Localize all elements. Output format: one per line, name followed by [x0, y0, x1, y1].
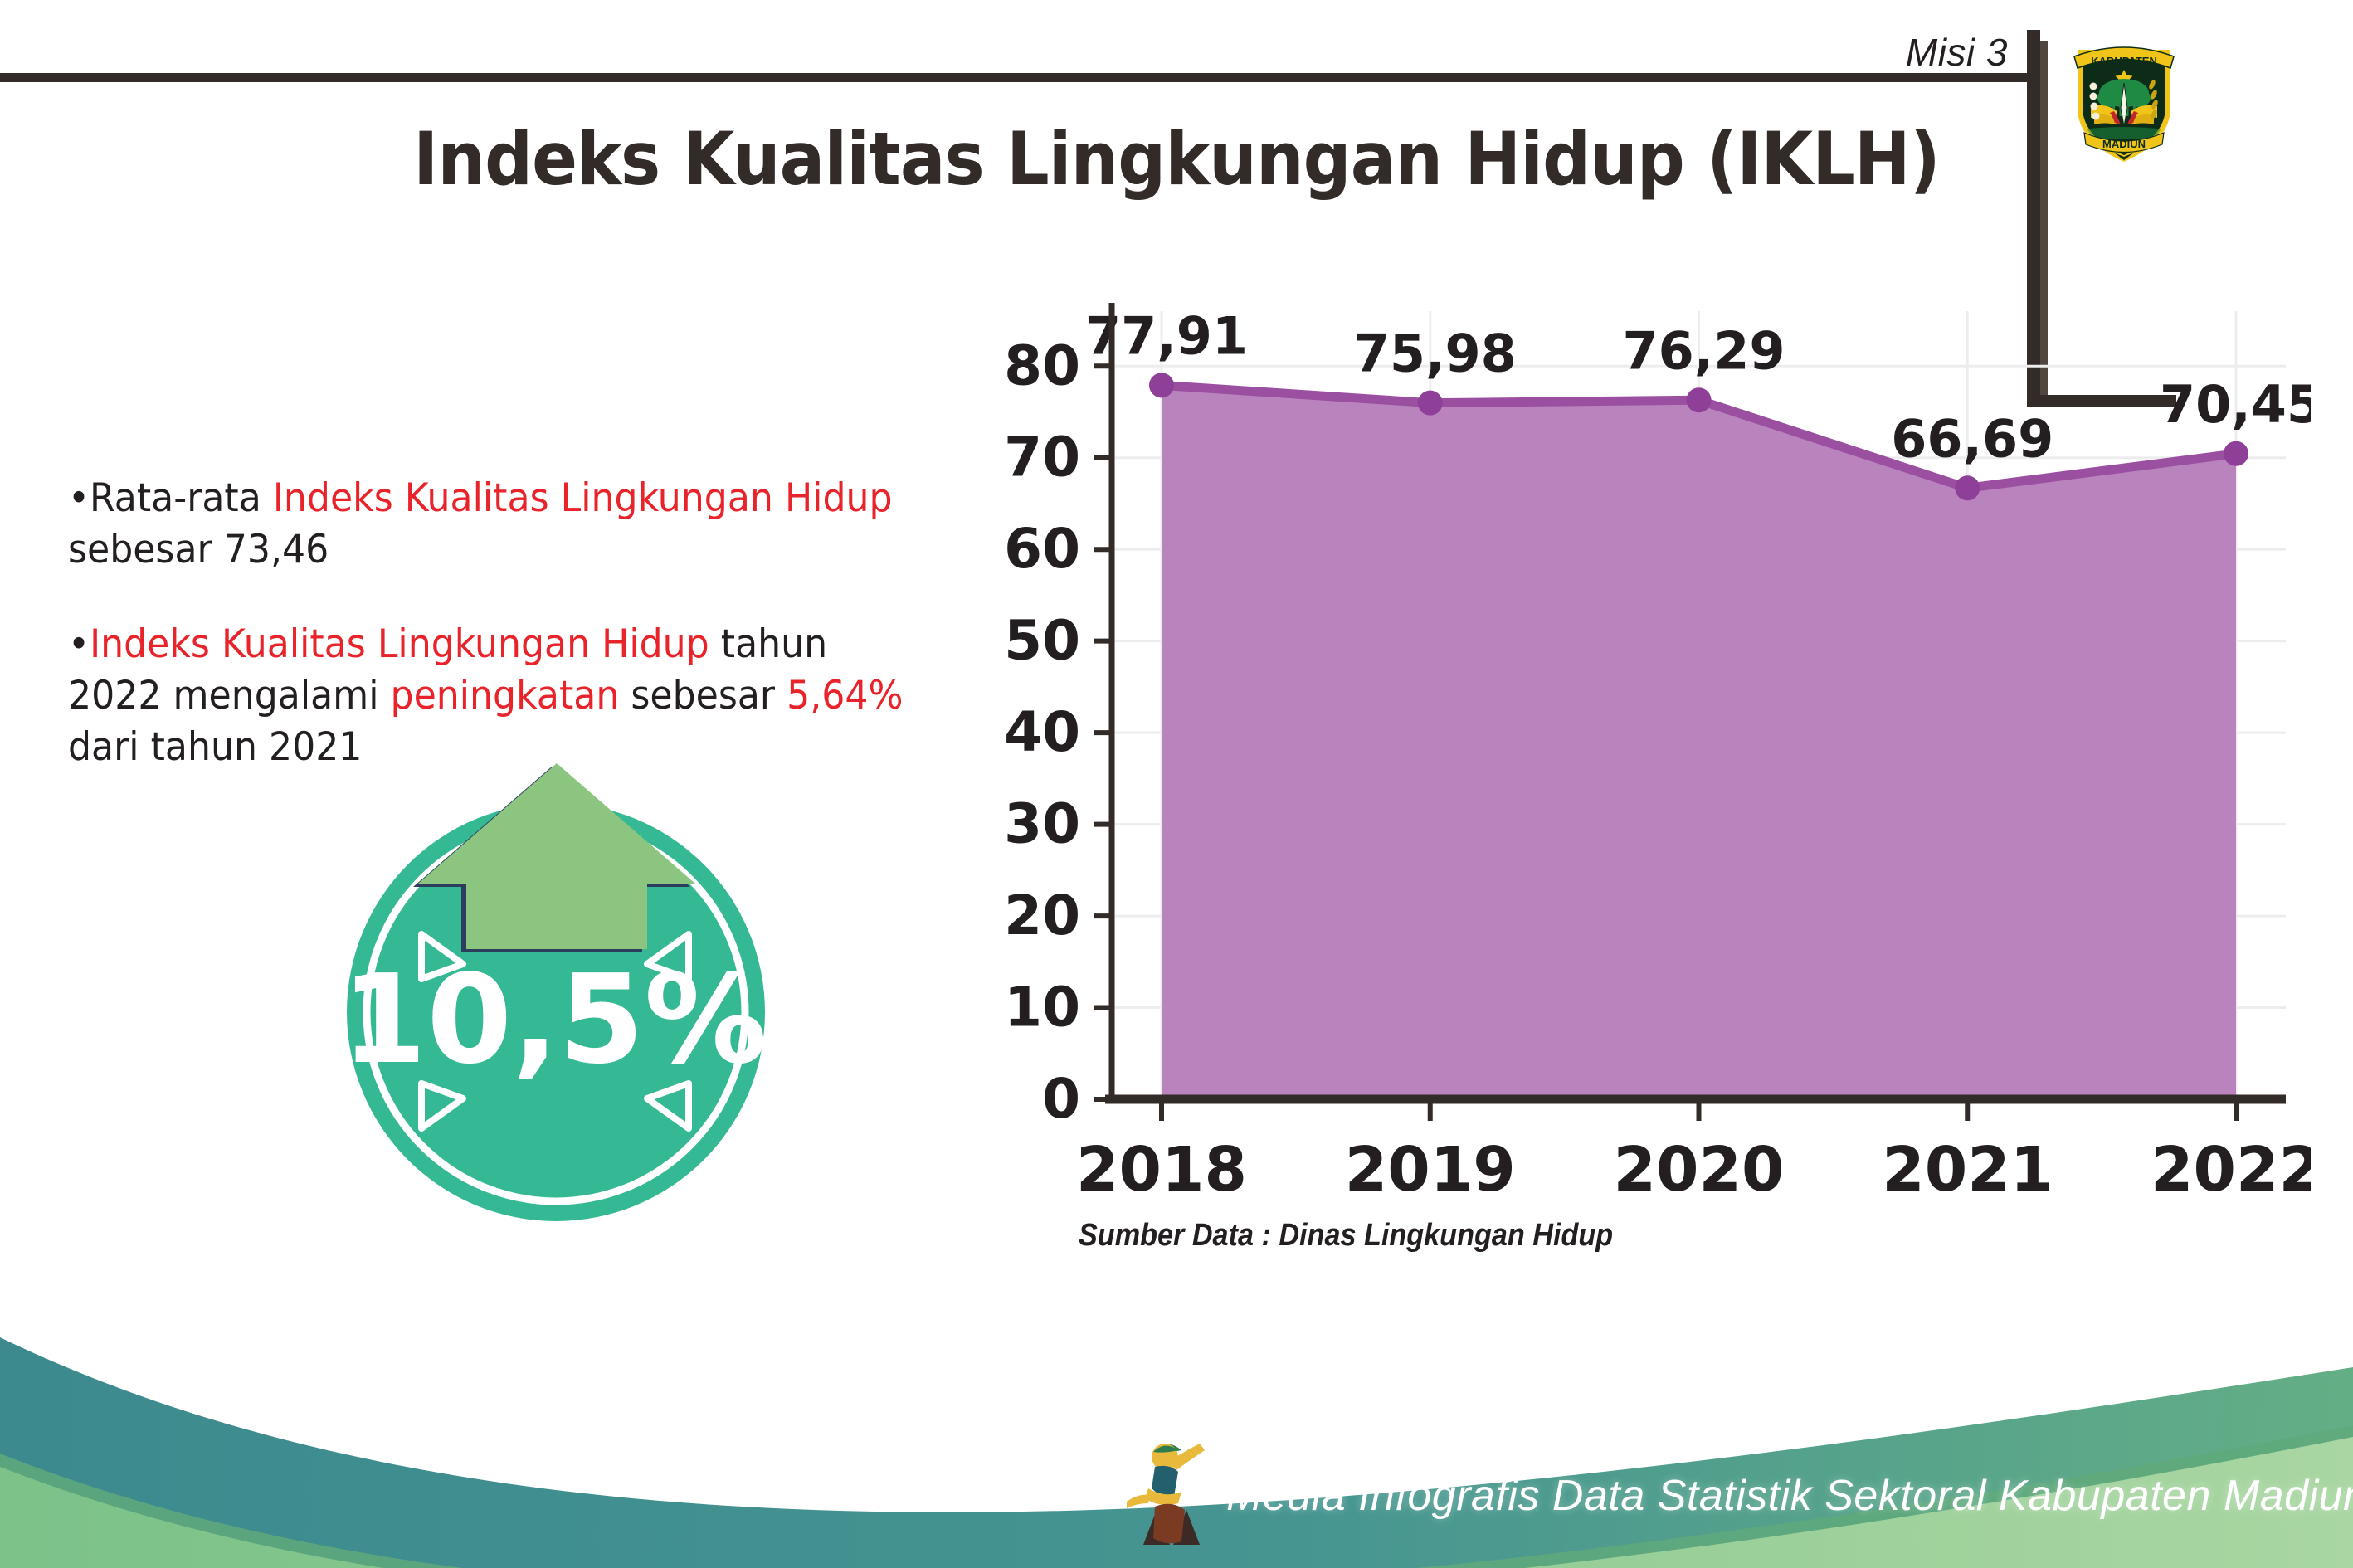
- x-axis-tick-label: 2021: [1882, 1134, 2053, 1205]
- bullet-text-segment: Indeks Kualitas Lingkungan Hidup: [273, 475, 893, 521]
- y-axis-tick-label: 30: [1004, 792, 1080, 856]
- bullet-text-segment: 5,64%: [787, 673, 903, 718]
- increase-badge: 10,5%: [324, 738, 788, 1236]
- y-axis-tick-label: 0: [1042, 1067, 1080, 1131]
- header-rule: [0, 73, 2035, 82]
- y-axis-tick-label: 20: [1004, 884, 1080, 947]
- y-axis-tick-label: 80: [1004, 334, 1080, 397]
- footer-caption: Media Infografis Data Statistik Sektoral…: [1226, 1471, 2353, 1521]
- list-item: •Rata-rata Indeks Kualitas Lingkungan Hi…: [68, 473, 910, 576]
- bullet-text-segment: •: [68, 621, 90, 667]
- dancer-logo-icon: [1118, 1434, 1218, 1550]
- emblem-top-text: KABUPATEN: [2091, 55, 2157, 67]
- data-point-marker: [2224, 441, 2248, 466]
- bullet-text-segment: peningkatan: [391, 673, 620, 718]
- page-title: Indeks Kualitas Lingkungan Hidup (IKLH): [94, 116, 2258, 202]
- x-axis-tick-label: 2020: [1614, 1134, 1785, 1205]
- data-point-marker: [1687, 387, 1712, 412]
- bullet-text-segment: sebesar 73,46: [68, 527, 329, 572]
- source-note: Sumber Data : Dinas Lingkungan Hidup: [1079, 1218, 1613, 1254]
- data-point-marker: [1955, 475, 1980, 500]
- badge-value: 10,5%: [341, 948, 767, 1091]
- iklh-area-chart: 77,9175,9876,2966,6970,45010203040506070…: [983, 274, 2311, 1286]
- chart-area-fill: [1162, 385, 2236, 1099]
- data-point-marker: [1418, 391, 1443, 416]
- bullet-text-segment: •Rata-rata: [68, 475, 273, 521]
- data-label: 66,69: [1891, 408, 2053, 469]
- mission-label: Misi 3: [1809, 23, 2008, 81]
- y-axis-tick-label: 70: [1004, 426, 1080, 489]
- x-axis-tick-label: 2019: [1345, 1134, 1516, 1205]
- data-label: 76,29: [1622, 320, 1785, 381]
- data-label: 75,98: [1354, 324, 1517, 384]
- y-axis-tick-label: 10: [1004, 976, 1080, 1040]
- x-axis-tick-label: 2022: [2151, 1134, 2311, 1205]
- y-axis-tick-label: 40: [1004, 700, 1080, 764]
- bullet-text-segment: Indeks Kualitas Lingkungan Hidup: [90, 621, 709, 667]
- x-axis-tick-label: 2018: [1076, 1134, 1247, 1205]
- bullet-text-segment: sebesar: [619, 673, 787, 718]
- infographic-slide: Misi 3 KABUPATEN: [0, 0, 2353, 1568]
- data-label: 70,45: [2160, 374, 2311, 435]
- bullet-text-segment: dari tahun 2021: [68, 724, 362, 770]
- y-axis-tick-label: 60: [1004, 517, 1080, 581]
- y-axis-tick-label: 50: [1004, 609, 1080, 673]
- data-point-marker: [1149, 373, 1174, 397]
